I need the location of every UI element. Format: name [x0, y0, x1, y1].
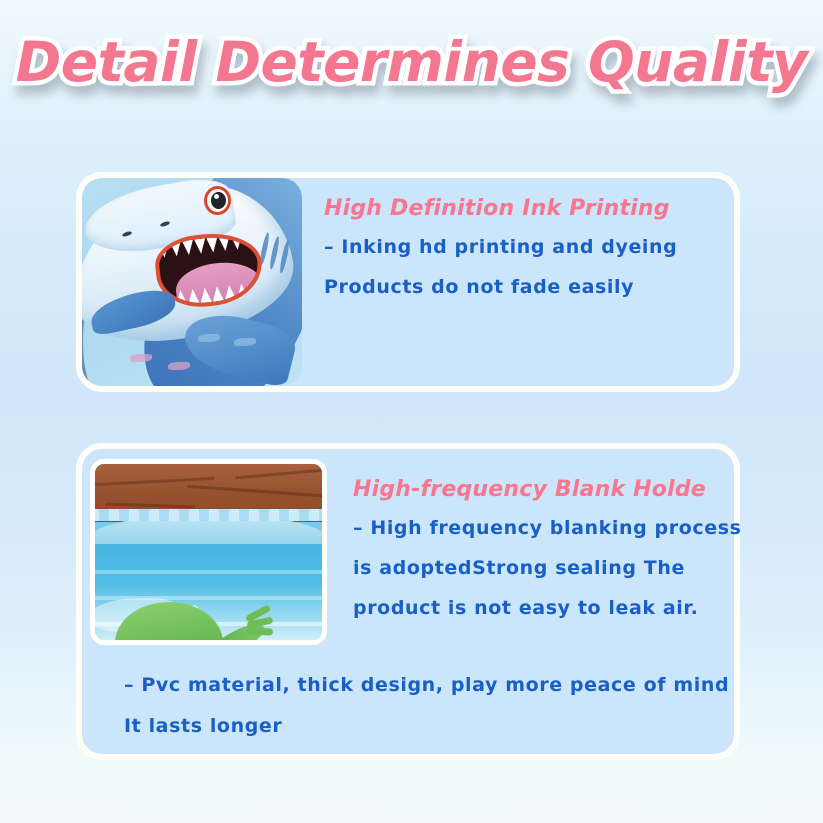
- feature-card-printing: High Definition Ink Printing – Inking hd…: [76, 172, 740, 392]
- wood-grain: [105, 502, 195, 508]
- frog-scene: [95, 464, 322, 640]
- card-1-line-2: Products do not fade easily: [324, 267, 734, 307]
- pink-ball: [262, 640, 327, 645]
- feature-card-sealing: High-frequency Blank Holde – High freque…: [76, 443, 740, 760]
- card-2-row: High-frequency Blank Holde – High freque…: [82, 449, 734, 645]
- card-1-row: High Definition Ink Printing – Inking hd…: [82, 178, 734, 386]
- card-2-heading: High-frequency Blank Holde: [353, 477, 742, 502]
- decorative-fish: [168, 362, 190, 370]
- decorative-fish: [198, 334, 220, 342]
- frog-eye: [137, 644, 169, 645]
- page-header: Detail Determines Quality: [0, 30, 823, 94]
- frog-pool-print-photo: [90, 459, 327, 645]
- card-1-heading: High Definition Ink Printing: [324, 196, 734, 221]
- page-title: Detail Determines Quality: [16, 30, 808, 94]
- card-2-line-2: is adoptedStrong sealing The: [353, 548, 742, 588]
- wood-grain: [187, 485, 327, 498]
- card-1-text: High Definition Ink Printing – Inking hd…: [302, 178, 734, 307]
- decorative-fish: [130, 354, 152, 362]
- wood-grain: [235, 468, 327, 480]
- card-2-text: High-frequency Blank Holde – High freque…: [327, 449, 742, 628]
- decorative-fish: [234, 338, 256, 346]
- card-1-line-1: – Inking hd printing and dyeing: [324, 227, 734, 267]
- card-2-footer-text: – Pvc material, thick design, play more …: [124, 665, 714, 747]
- card-2-footer-line-1: – Pvc material, thick design, play more …: [124, 665, 714, 706]
- card-2-line-1: – High frequency blanking process: [353, 508, 742, 548]
- shark-pool-print-photo: [82, 178, 302, 386]
- shark-scene: [82, 178, 302, 386]
- frog-hand: [245, 610, 285, 640]
- water-ripple: [90, 570, 327, 574]
- card-2-footer-line-2: It lasts longer: [124, 706, 714, 747]
- pool-water: [95, 544, 322, 640]
- shark-pupil: [211, 192, 226, 209]
- frog-eye: [177, 640, 209, 645]
- card-2-line-3: product is not easy to leak air.: [353, 588, 742, 628]
